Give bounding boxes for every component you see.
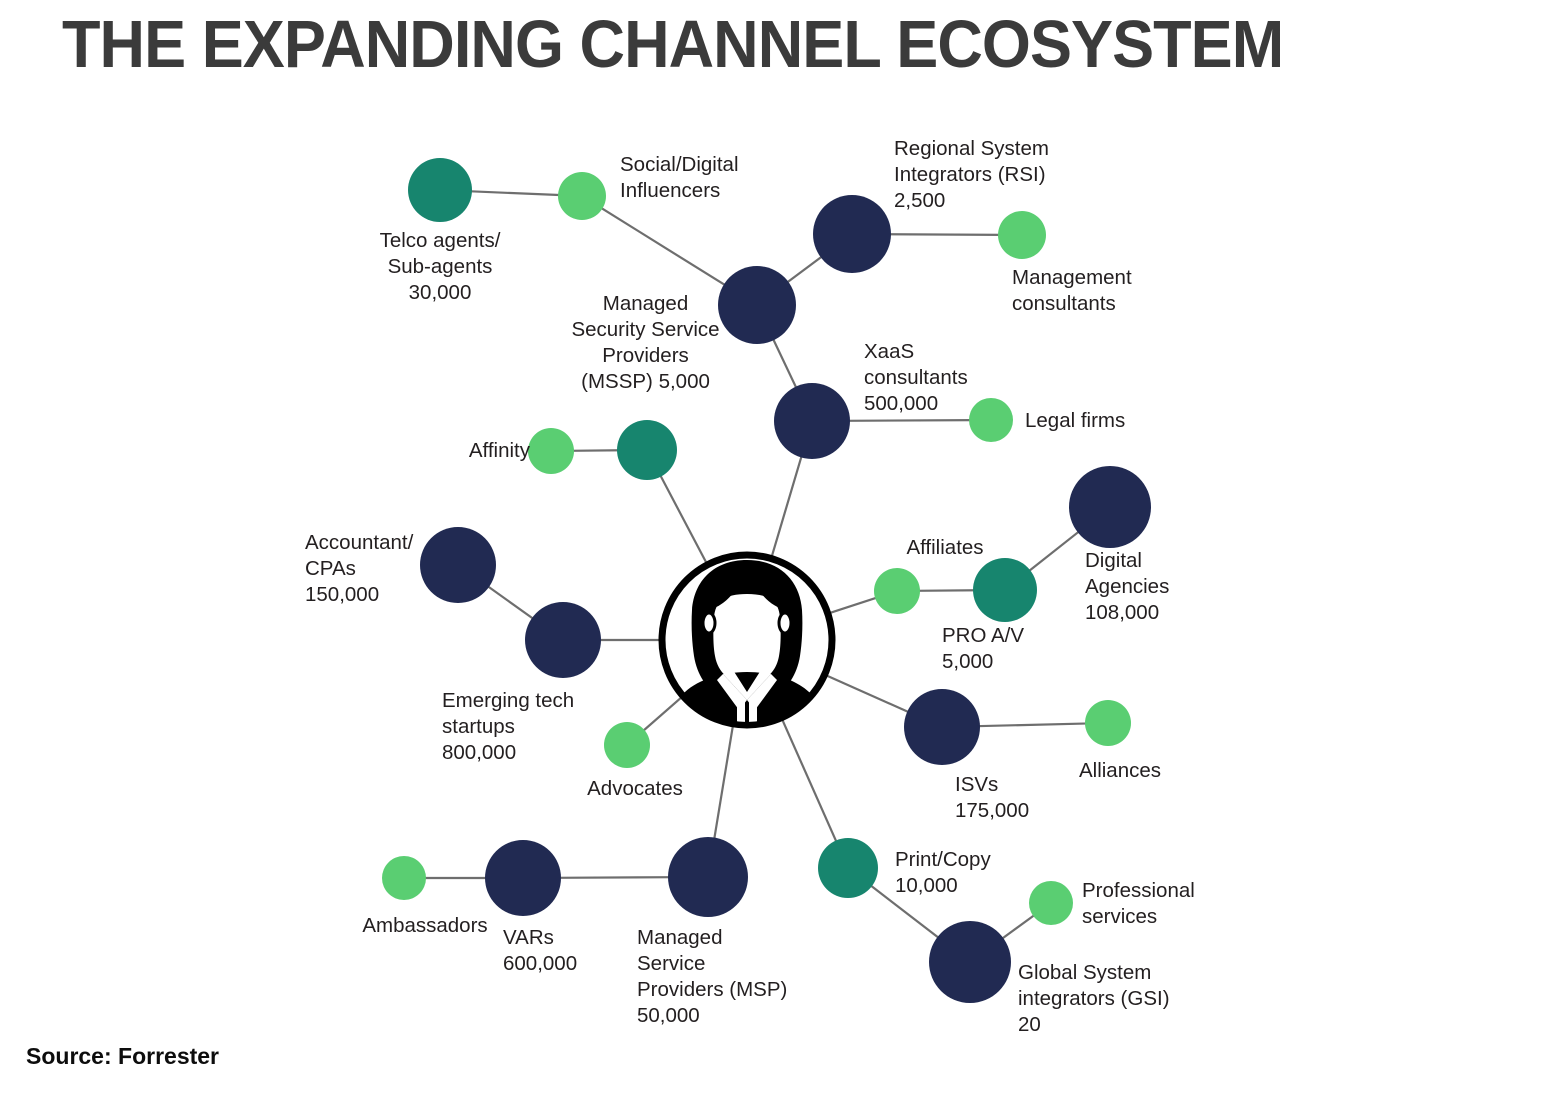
node-name-emerging: Emerging tech startups: [442, 689, 574, 738]
node-label-emerging: Emerging tech startups 800,000: [442, 688, 622, 766]
node-label-rsi: Regional System Integrators (RSI) 2,500: [894, 136, 1124, 214]
node-label-accountant: Accountant/ CPAs 150,000: [305, 530, 450, 608]
node-label-vars: VARs 600,000: [503, 925, 653, 977]
node-count-gsi: 20: [1018, 1013, 1041, 1036]
node-count-print: 10,000: [895, 874, 958, 897]
source-note: Source: Forrester: [26, 1043, 219, 1070]
edge-proav-digital: [1027, 530, 1081, 573]
edge-msp-hub: [714, 723, 734, 842]
node-label-mssp: Managed Security Service Providers (MSSP…: [533, 291, 758, 395]
node-circle-gsi[interactable]: [929, 921, 1011, 1003]
node-label-xaas: XaaS consultants 500,000: [864, 339, 1054, 417]
node-circle-xaas[interactable]: [774, 383, 850, 459]
node-name-xaas: XaaS consultants: [864, 340, 968, 389]
node-name-mssp: Managed Security Service Providers (MSSP…: [571, 292, 719, 393]
node-name-accountant: Accountant/ CPAs: [305, 531, 413, 580]
node-name-gsi: Global System integrators (GSI): [1018, 961, 1170, 1010]
node-label-proserv: Professional services: [1082, 878, 1242, 930]
node-label-proav: PRO A/V 5,000: [942, 623, 1082, 675]
node-name-ambassadors: Ambassadors: [362, 914, 487, 937]
node-label-social: Social/Digital Influencers: [620, 152, 830, 204]
edge-accountant-emerging: [486, 585, 536, 620]
node-label-affinity: Affinity: [400, 438, 530, 464]
node-count-msp: 50,000: [637, 1004, 700, 1027]
edge-vars-msp: [557, 877, 672, 878]
node-label-advocates: Advocates: [560, 776, 710, 802]
hub-node[interactable]: [662, 555, 832, 772]
node-name-vars: VARs: [503, 926, 554, 949]
node-circle-mgmt[interactable]: [998, 211, 1046, 259]
node-circle-rsi[interactable]: [813, 195, 891, 273]
node-name-print: Print/Copy: [895, 848, 991, 871]
node-count-accountant: 150,000: [305, 583, 379, 606]
node-circle-affiliates[interactable]: [874, 568, 920, 614]
node-name-social: Social/Digital Influencers: [620, 153, 739, 202]
node-circle-emerging[interactable]: [525, 602, 601, 678]
node-label-legal: Legal firms: [1025, 408, 1205, 434]
node-circle-affinity2[interactable]: [617, 420, 677, 480]
node-label-gsi: Global System integrators (GSI) 20: [1018, 960, 1208, 1038]
node-name-alliances: Alliances: [1079, 759, 1161, 782]
node-name-affinity: Affinity: [469, 439, 530, 462]
edge-affiliates-hub: [827, 597, 879, 614]
node-count-emerging: 800,000: [442, 741, 516, 764]
edge-affinity-affinity2: [570, 450, 621, 451]
node-count-digital: 108,000: [1085, 601, 1159, 624]
node-name-proserv: Professional services: [1082, 879, 1195, 928]
node-count-rsi: 2,500: [894, 189, 945, 212]
node-name-legal: Legal firms: [1025, 409, 1125, 432]
node-name-rsi: Regional System Integrators (RSI): [894, 137, 1049, 186]
node-label-digital: Digital Agencies 108,000: [1085, 548, 1245, 626]
edge-advocates-hub: [641, 695, 683, 732]
node-circle-isvs[interactable]: [904, 689, 980, 765]
edge-xaas-hub: [771, 454, 802, 560]
edge-social-mssp: [599, 207, 727, 287]
node-circle-msp[interactable]: [668, 837, 748, 917]
node-circle-telco[interactable]: [408, 158, 472, 222]
node-label-msp: Managed Service Providers (MSP) 50,000: [637, 925, 822, 1029]
node-name-proav: PRO A/V: [942, 624, 1024, 647]
node-circle-proav[interactable]: [973, 558, 1037, 622]
edge-mssp-xaas: [772, 337, 797, 391]
node-count-telco: 30,000: [409, 281, 472, 304]
node-circle-vars[interactable]: [485, 840, 561, 916]
node-circle-alliances[interactable]: [1085, 700, 1131, 746]
node-circle-digital[interactable]: [1069, 466, 1151, 548]
edge-telco-social: [468, 191, 562, 195]
node-name-mgmt: Management consultants: [1012, 266, 1132, 315]
node-name-affiliates: Affiliates: [906, 536, 983, 559]
edge-print-hub: [781, 717, 837, 844]
node-count-vars: 600,000: [503, 952, 577, 975]
node-circle-affinity[interactable]: [528, 428, 574, 474]
node-label-mgmt: Management consultants: [1012, 265, 1212, 317]
node-count-xaas: 500,000: [864, 392, 938, 415]
edge-affiliates-proav: [916, 590, 977, 591]
node-name-telco: Telco agents/ Sub-agents: [380, 229, 501, 278]
node-circle-print[interactable]: [818, 838, 878, 898]
node-label-print: Print/Copy 10,000: [895, 847, 1055, 899]
edge-affinity2-hub: [659, 473, 708, 566]
node-circle-social[interactable]: [558, 172, 606, 220]
node-count-proav: 5,000: [942, 650, 993, 673]
node-name-msp: Managed Service Providers (MSP): [637, 926, 787, 1001]
node-count-isvs: 175,000: [955, 799, 1029, 822]
node-name-isvs: ISVs: [955, 773, 998, 796]
edge-gsi-proserv: [1000, 914, 1037, 941]
edge-xaas-legal: [846, 420, 973, 421]
edge-mssp-rsi: [785, 255, 824, 284]
edge-isvs-hub: [824, 674, 911, 713]
node-label-telco: Telco agents/ Sub-agents 30,000: [330, 228, 550, 306]
node-circle-ambassadors[interactable]: [382, 856, 426, 900]
node-label-ambassadors: Ambassadors: [340, 913, 510, 939]
edge-rsi-mgmt: [887, 234, 1002, 235]
node-label-alliances: Alliances: [1045, 758, 1195, 784]
node-name-digital: Digital Agencies: [1085, 549, 1169, 598]
edge-isvs-alliances: [976, 723, 1089, 726]
node-name-advocates: Advocates: [587, 777, 683, 800]
node-label-affiliates: Affiliates: [880, 535, 1010, 561]
